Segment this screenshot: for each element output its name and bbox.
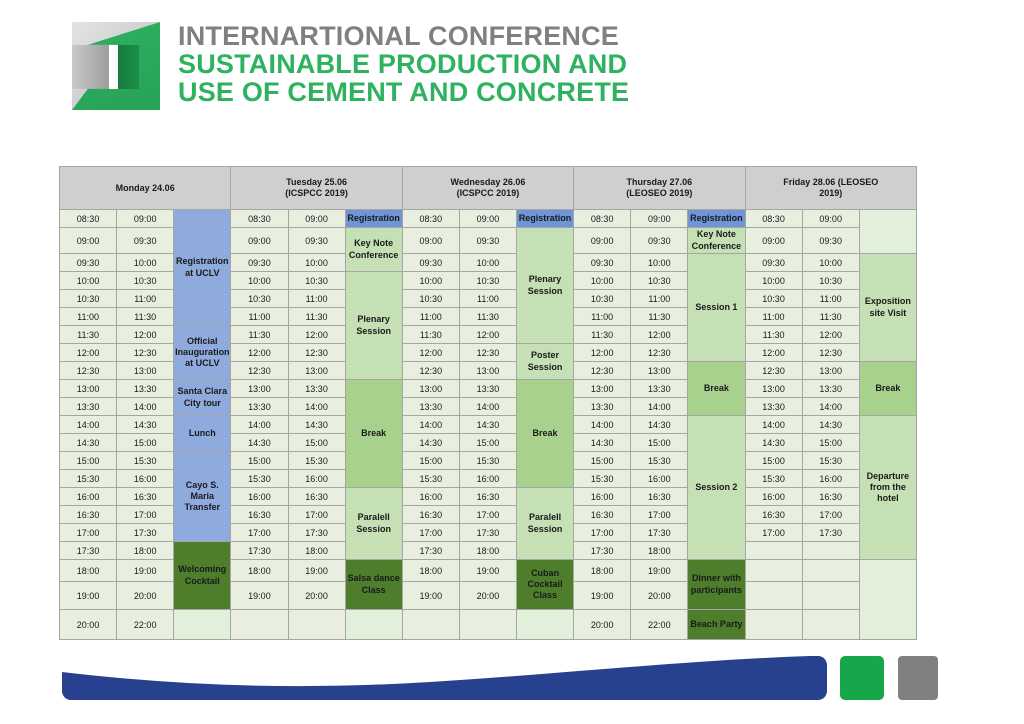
time-end-thursday: 11:30 [631, 308, 688, 326]
event-cell[interactable]: Break [859, 362, 916, 416]
time-end-thursday: 09:00 [631, 210, 688, 228]
time-start-tuesday: 11:00 [231, 308, 288, 326]
time-end-friday: 15:30 [802, 452, 859, 470]
time-start-monday: 19:00 [60, 582, 117, 610]
time-start-tuesday: 09:30 [231, 254, 288, 272]
event-cell-empty [345, 610, 402, 640]
time-start-monday: 16:30 [60, 506, 117, 524]
time-start-monday: 18:00 [60, 560, 117, 582]
time-start-tuesday: 17:30 [231, 542, 288, 560]
time-start-wednesday: 16:00 [402, 488, 459, 506]
time-start-thursday: 16:30 [574, 506, 631, 524]
time-start-wednesday: 09:30 [402, 254, 459, 272]
time-start-thursday: 11:00 [574, 308, 631, 326]
time-end-thursday: 09:30 [631, 228, 688, 254]
time-end-wednesday [459, 610, 516, 640]
time-start-tuesday: 16:30 [231, 506, 288, 524]
time-end-tuesday [288, 610, 345, 640]
time-start-wednesday: 16:30 [402, 506, 459, 524]
time-end-monday: 09:00 [117, 210, 174, 228]
time-end-monday: 11:00 [117, 290, 174, 308]
time-start-wednesday: 13:30 [402, 398, 459, 416]
time-start-friday [745, 582, 802, 610]
event-cell[interactable]: Session 1 [688, 254, 745, 362]
time-start-wednesday: 15:00 [402, 452, 459, 470]
time-end-wednesday: 13:30 [459, 380, 516, 398]
time-end-tuesday: 09:00 [288, 210, 345, 228]
schedule-row: 08:3009:00Registration at UCLV08:3009:00… [60, 210, 917, 228]
time-end-wednesday: 09:30 [459, 228, 516, 254]
day-header-monday: Monday 24.06 [60, 167, 231, 210]
time-end-wednesday: 14:30 [459, 416, 516, 434]
time-start-thursday: 20:00 [574, 610, 631, 640]
time-start-monday: 11:30 [60, 326, 117, 344]
time-end-tuesday: 14:30 [288, 416, 345, 434]
time-end-friday: 14:30 [802, 416, 859, 434]
event-cell[interactable]: Plenary Session [517, 228, 574, 344]
event-cell[interactable]: Dinner with participants [688, 560, 745, 610]
time-end-monday: 15:30 [117, 452, 174, 470]
time-end-friday: 16:00 [802, 470, 859, 488]
time-end-thursday: 22:00 [631, 610, 688, 640]
time-start-tuesday: 13:30 [231, 398, 288, 416]
footer-wave-shape [62, 656, 827, 700]
time-start-wednesday: 10:30 [402, 290, 459, 308]
time-end-tuesday: 09:30 [288, 228, 345, 254]
time-start-thursday: 13:00 [574, 380, 631, 398]
time-end-monday: 14:00 [117, 398, 174, 416]
time-start-thursday: 11:30 [574, 326, 631, 344]
time-end-tuesday: 16:30 [288, 488, 345, 506]
time-start-friday: 09:30 [745, 254, 802, 272]
time-start-tuesday: 15:30 [231, 470, 288, 488]
day-header-wednesday: Wednesday 26.06(ICSPCC 2019) [402, 167, 573, 210]
time-end-friday: 17:00 [802, 506, 859, 524]
time-start-monday: 17:00 [60, 524, 117, 542]
time-end-monday: 11:30 [117, 308, 174, 326]
time-end-thursday: 15:00 [631, 434, 688, 452]
event-cell[interactable]: Registration at UCLV [174, 210, 231, 326]
time-start-thursday: 08:30 [574, 210, 631, 228]
event-cell[interactable]: Key Note Conference [688, 228, 745, 254]
time-start-monday: 11:00 [60, 308, 117, 326]
time-end-thursday: 16:30 [631, 488, 688, 506]
time-start-monday: 14:30 [60, 434, 117, 452]
time-end-wednesday: 15:30 [459, 452, 516, 470]
time-start-monday: 15:00 [60, 452, 117, 470]
time-start-monday: 16:00 [60, 488, 117, 506]
time-start-monday: 14:00 [60, 416, 117, 434]
time-end-thursday: 10:00 [631, 254, 688, 272]
time-start-wednesday: 12:00 [402, 344, 459, 362]
time-start-thursday: 14:30 [574, 434, 631, 452]
time-start-friday: 09:00 [745, 228, 802, 254]
time-end-wednesday: 12:30 [459, 344, 516, 362]
time-end-wednesday: 17:00 [459, 506, 516, 524]
event-cell[interactable]: Session 2 [688, 416, 745, 560]
time-start-friday: 14:00 [745, 416, 802, 434]
time-start-thursday: 19:00 [574, 582, 631, 610]
time-end-friday: 10:30 [802, 272, 859, 290]
schedule-row: 13:0013:30Santa Clara City tour13:0013:3… [60, 380, 917, 398]
time-start-wednesday: 15:30 [402, 470, 459, 488]
conference-logo-icon [72, 22, 160, 110]
time-start-friday: 10:30 [745, 290, 802, 308]
time-end-wednesday: 18:00 [459, 542, 516, 560]
time-start-wednesday: 14:00 [402, 416, 459, 434]
time-start-friday: 14:30 [745, 434, 802, 452]
schedule-row: 15:0015:30Cayo S. Maria Transfer15:0015:… [60, 452, 917, 470]
time-end-friday: 13:30 [802, 380, 859, 398]
schedule-row: 14:0014:30Lunch14:0014:3014:0014:3014:00… [60, 416, 917, 434]
time-end-friday [802, 610, 859, 640]
time-start-friday: 15:00 [745, 452, 802, 470]
event-cell-empty [859, 210, 916, 254]
conference-header: INTERNARTIONAL CONFERENCE SUSTAINABLE PR… [72, 22, 629, 110]
time-end-friday [802, 560, 859, 582]
schedule-table-container: Monday 24.06 Tuesday 25.06(ICSPCC 2019) … [59, 166, 917, 640]
footer-green-square [840, 656, 884, 700]
time-end-thursday: 16:00 [631, 470, 688, 488]
time-start-tuesday: 19:00 [231, 582, 288, 610]
time-end-friday: 11:30 [802, 308, 859, 326]
time-start-monday: 13:00 [60, 380, 117, 398]
event-cell-empty [174, 610, 231, 640]
time-end-monday: 12:30 [117, 344, 174, 362]
time-start-friday: 13:30 [745, 398, 802, 416]
time-end-friday: 10:00 [802, 254, 859, 272]
time-end-friday: 11:00 [802, 290, 859, 308]
time-end-tuesday: 12:30 [288, 344, 345, 362]
time-start-tuesday: 10:30 [231, 290, 288, 308]
event-cell[interactable]: Departure from the hotel [859, 416, 916, 560]
time-end-friday: 12:30 [802, 344, 859, 362]
time-end-tuesday: 13:30 [288, 380, 345, 398]
event-cell[interactable]: Official Inauguration at UCLV [174, 326, 231, 380]
footer-decoration [0, 646, 1024, 706]
time-end-tuesday: 12:00 [288, 326, 345, 344]
time-end-thursday: 12:30 [631, 344, 688, 362]
time-start-thursday: 10:00 [574, 272, 631, 290]
time-end-monday: 16:00 [117, 470, 174, 488]
time-start-tuesday: 11:30 [231, 326, 288, 344]
time-end-monday: 20:00 [117, 582, 174, 610]
time-end-wednesday: 16:30 [459, 488, 516, 506]
event-cell[interactable]: Cuban Cocktail Class [517, 560, 574, 610]
time-start-monday: 08:30 [60, 210, 117, 228]
time-end-wednesday: 19:00 [459, 560, 516, 582]
time-end-friday: 09:00 [802, 210, 859, 228]
time-start-tuesday: 18:00 [231, 560, 288, 582]
time-start-wednesday: 17:00 [402, 524, 459, 542]
event-cell[interactable]: Santa Clara City tour [174, 380, 231, 416]
time-start-wednesday: 12:30 [402, 362, 459, 380]
day-header-friday: Friday 28.06 (LEOSEO2019) [745, 167, 917, 210]
time-end-wednesday: 15:00 [459, 434, 516, 452]
time-start-thursday: 09:00 [574, 228, 631, 254]
time-start-friday [745, 560, 802, 582]
time-start-thursday: 16:00 [574, 488, 631, 506]
time-start-monday: 20:00 [60, 610, 117, 640]
event-cell[interactable]: Exposition site Visit [859, 254, 916, 362]
time-end-wednesday: 10:00 [459, 254, 516, 272]
conference-line-2: SUSTAINABLE PRODUCTION AND [178, 50, 629, 78]
time-end-monday: 18:00 [117, 542, 174, 560]
time-end-friday: 14:00 [802, 398, 859, 416]
time-end-thursday: 13:30 [631, 380, 688, 398]
time-start-wednesday: 11:00 [402, 308, 459, 326]
time-end-wednesday: 09:00 [459, 210, 516, 228]
time-start-monday: 12:30 [60, 362, 117, 380]
event-cell[interactable]: Break [345, 380, 402, 488]
time-end-friday: 09:30 [802, 228, 859, 254]
event-cell[interactable]: Registration [517, 210, 574, 228]
time-end-friday: 16:30 [802, 488, 859, 506]
time-end-tuesday: 18:00 [288, 542, 345, 560]
time-start-thursday: 09:30 [574, 254, 631, 272]
time-end-tuesday: 17:30 [288, 524, 345, 542]
time-start-tuesday [231, 610, 288, 640]
time-start-friday: 12:00 [745, 344, 802, 362]
time-end-monday: 10:30 [117, 272, 174, 290]
event-cell[interactable]: Cayo S. Maria Transfer [174, 452, 231, 542]
time-start-thursday: 12:00 [574, 344, 631, 362]
time-end-thursday: 20:00 [631, 582, 688, 610]
time-start-friday: 12:30 [745, 362, 802, 380]
time-end-friday: 17:30 [802, 524, 859, 542]
time-start-tuesday: 09:00 [231, 228, 288, 254]
time-end-thursday: 15:30 [631, 452, 688, 470]
time-end-tuesday: 11:00 [288, 290, 345, 308]
time-end-monday: 09:30 [117, 228, 174, 254]
time-end-thursday: 14:00 [631, 398, 688, 416]
time-end-tuesday: 14:00 [288, 398, 345, 416]
time-start-friday: 08:30 [745, 210, 802, 228]
time-end-wednesday: 13:00 [459, 362, 516, 380]
time-end-monday: 22:00 [117, 610, 174, 640]
time-end-monday: 16:30 [117, 488, 174, 506]
time-start-thursday: 10:30 [574, 290, 631, 308]
time-start-thursday: 17:30 [574, 542, 631, 560]
time-start-friday: 11:00 [745, 308, 802, 326]
time-start-thursday: 15:30 [574, 470, 631, 488]
time-end-friday: 13:00 [802, 362, 859, 380]
time-end-wednesday: 16:00 [459, 470, 516, 488]
time-end-monday: 17:30 [117, 524, 174, 542]
schedule-table: Monday 24.06 Tuesday 25.06(ICSPCC 2019) … [59, 166, 917, 640]
event-cell-empty [517, 610, 574, 640]
event-cell[interactable]: Poster Session [517, 344, 574, 380]
time-end-thursday: 12:00 [631, 326, 688, 344]
time-start-monday: 13:30 [60, 398, 117, 416]
time-end-thursday: 19:00 [631, 560, 688, 582]
time-end-tuesday: 15:00 [288, 434, 345, 452]
time-start-friday: 11:30 [745, 326, 802, 344]
time-end-friday: 15:00 [802, 434, 859, 452]
time-end-thursday: 18:00 [631, 542, 688, 560]
time-end-wednesday: 20:00 [459, 582, 516, 610]
conference-line-1: INTERNARTIONAL CONFERENCE [178, 22, 629, 50]
event-cell[interactable]: Break [688, 362, 745, 416]
time-start-monday: 09:00 [60, 228, 117, 254]
time-start-thursday: 15:00 [574, 452, 631, 470]
time-start-friday: 15:30 [745, 470, 802, 488]
time-end-friday [802, 542, 859, 560]
conference-line-3: USE OF CEMENT AND CONCRETE [178, 78, 629, 106]
time-end-monday: 15:00 [117, 434, 174, 452]
event-cell[interactable]: Lunch [174, 416, 231, 452]
time-end-tuesday: 20:00 [288, 582, 345, 610]
time-start-wednesday: 11:30 [402, 326, 459, 344]
schedule-row: 20:0022:0020:0022:00Beach Party [60, 610, 917, 640]
time-start-tuesday: 16:00 [231, 488, 288, 506]
time-start-wednesday: 14:30 [402, 434, 459, 452]
time-end-wednesday: 11:30 [459, 308, 516, 326]
schedule-body: 08:3009:00Registration at UCLV08:3009:00… [60, 210, 917, 640]
event-cell-empty [859, 560, 916, 640]
time-end-wednesday: 14:00 [459, 398, 516, 416]
event-cell[interactable]: Key Note Conference [345, 228, 402, 272]
time-end-wednesday: 11:00 [459, 290, 516, 308]
time-end-monday: 14:30 [117, 416, 174, 434]
time-end-monday: 13:00 [117, 362, 174, 380]
time-start-friday: 13:00 [745, 380, 802, 398]
time-end-tuesday: 10:00 [288, 254, 345, 272]
time-start-friday: 17:00 [745, 524, 802, 542]
time-end-thursday: 10:30 [631, 272, 688, 290]
time-start-friday: 10:00 [745, 272, 802, 290]
schedule-row: 11:3012:00Official Inauguration at UCLV1… [60, 326, 917, 344]
schedule-header-row: Monday 24.06 Tuesday 25.06(ICSPCC 2019) … [60, 167, 917, 210]
time-end-thursday: 17:30 [631, 524, 688, 542]
time-end-wednesday: 12:00 [459, 326, 516, 344]
event-cell[interactable]: Paralell Session [517, 488, 574, 560]
time-start-wednesday: 19:00 [402, 582, 459, 610]
time-end-friday [802, 582, 859, 610]
time-start-monday: 10:00 [60, 272, 117, 290]
time-start-tuesday: 17:00 [231, 524, 288, 542]
event-cell[interactable]: Break [517, 380, 574, 488]
time-start-tuesday: 13:00 [231, 380, 288, 398]
time-start-wednesday [402, 610, 459, 640]
time-start-tuesday: 12:00 [231, 344, 288, 362]
time-start-wednesday: 18:00 [402, 560, 459, 582]
time-start-thursday: 17:00 [574, 524, 631, 542]
time-end-thursday: 14:30 [631, 416, 688, 434]
day-header-thursday: Thursday 27.06(LEOSEO 2019) [574, 167, 745, 210]
time-end-friday: 12:00 [802, 326, 859, 344]
time-end-tuesday: 13:00 [288, 362, 345, 380]
time-start-monday: 10:30 [60, 290, 117, 308]
time-end-tuesday: 19:00 [288, 560, 345, 582]
time-start-monday: 09:30 [60, 254, 117, 272]
schedule-row: 17:3018:00Welcoming Cocktail17:3018:0017… [60, 542, 917, 560]
event-cell[interactable]: Registration [345, 210, 402, 228]
time-end-tuesday: 15:30 [288, 452, 345, 470]
time-end-tuesday: 11:30 [288, 308, 345, 326]
event-cell[interactable]: Beach Party [688, 610, 745, 640]
event-cell[interactable]: Plenary Session [345, 272, 402, 380]
event-cell[interactable]: Paralell Session [345, 488, 402, 560]
time-start-tuesday: 10:00 [231, 272, 288, 290]
time-start-thursday: 12:30 [574, 362, 631, 380]
time-start-monday: 15:30 [60, 470, 117, 488]
time-end-tuesday: 17:00 [288, 506, 345, 524]
time-end-thursday: 17:00 [631, 506, 688, 524]
day-header-tuesday: Tuesday 25.06(ICSPCC 2019) [231, 167, 402, 210]
time-start-tuesday: 08:30 [231, 210, 288, 228]
time-end-monday: 17:00 [117, 506, 174, 524]
time-start-thursday: 13:30 [574, 398, 631, 416]
time-start-tuesday: 14:30 [231, 434, 288, 452]
time-start-wednesday: 09:00 [402, 228, 459, 254]
time-end-wednesday: 17:30 [459, 524, 516, 542]
time-end-monday: 12:00 [117, 326, 174, 344]
time-start-monday: 17:30 [60, 542, 117, 560]
time-start-thursday: 14:00 [574, 416, 631, 434]
time-start-friday: 16:30 [745, 506, 802, 524]
event-cell[interactable]: Welcoming Cocktail [174, 542, 231, 610]
time-start-wednesday: 10:00 [402, 272, 459, 290]
time-start-wednesday: 13:00 [402, 380, 459, 398]
time-end-thursday: 13:00 [631, 362, 688, 380]
time-start-wednesday: 08:30 [402, 210, 459, 228]
time-start-monday: 12:00 [60, 344, 117, 362]
time-end-monday: 10:00 [117, 254, 174, 272]
time-end-tuesday: 10:30 [288, 272, 345, 290]
time-end-monday: 13:30 [117, 380, 174, 398]
time-end-thursday: 11:00 [631, 290, 688, 308]
footer-gray-square [898, 656, 938, 700]
time-start-friday [745, 542, 802, 560]
time-end-monday: 19:00 [117, 560, 174, 582]
time-start-friday [745, 610, 802, 640]
time-start-friday: 16:00 [745, 488, 802, 506]
time-end-tuesday: 16:00 [288, 470, 345, 488]
time-start-tuesday: 14:00 [231, 416, 288, 434]
event-cell[interactable]: Registration [688, 210, 745, 228]
conference-title-block: INTERNARTIONAL CONFERENCE SUSTAINABLE PR… [178, 22, 629, 106]
time-end-wednesday: 10:30 [459, 272, 516, 290]
time-start-wednesday: 17:30 [402, 542, 459, 560]
time-start-thursday: 18:00 [574, 560, 631, 582]
time-start-tuesday: 12:30 [231, 362, 288, 380]
event-cell[interactable]: Salsa dance Class [345, 560, 402, 610]
time-start-tuesday: 15:00 [231, 452, 288, 470]
